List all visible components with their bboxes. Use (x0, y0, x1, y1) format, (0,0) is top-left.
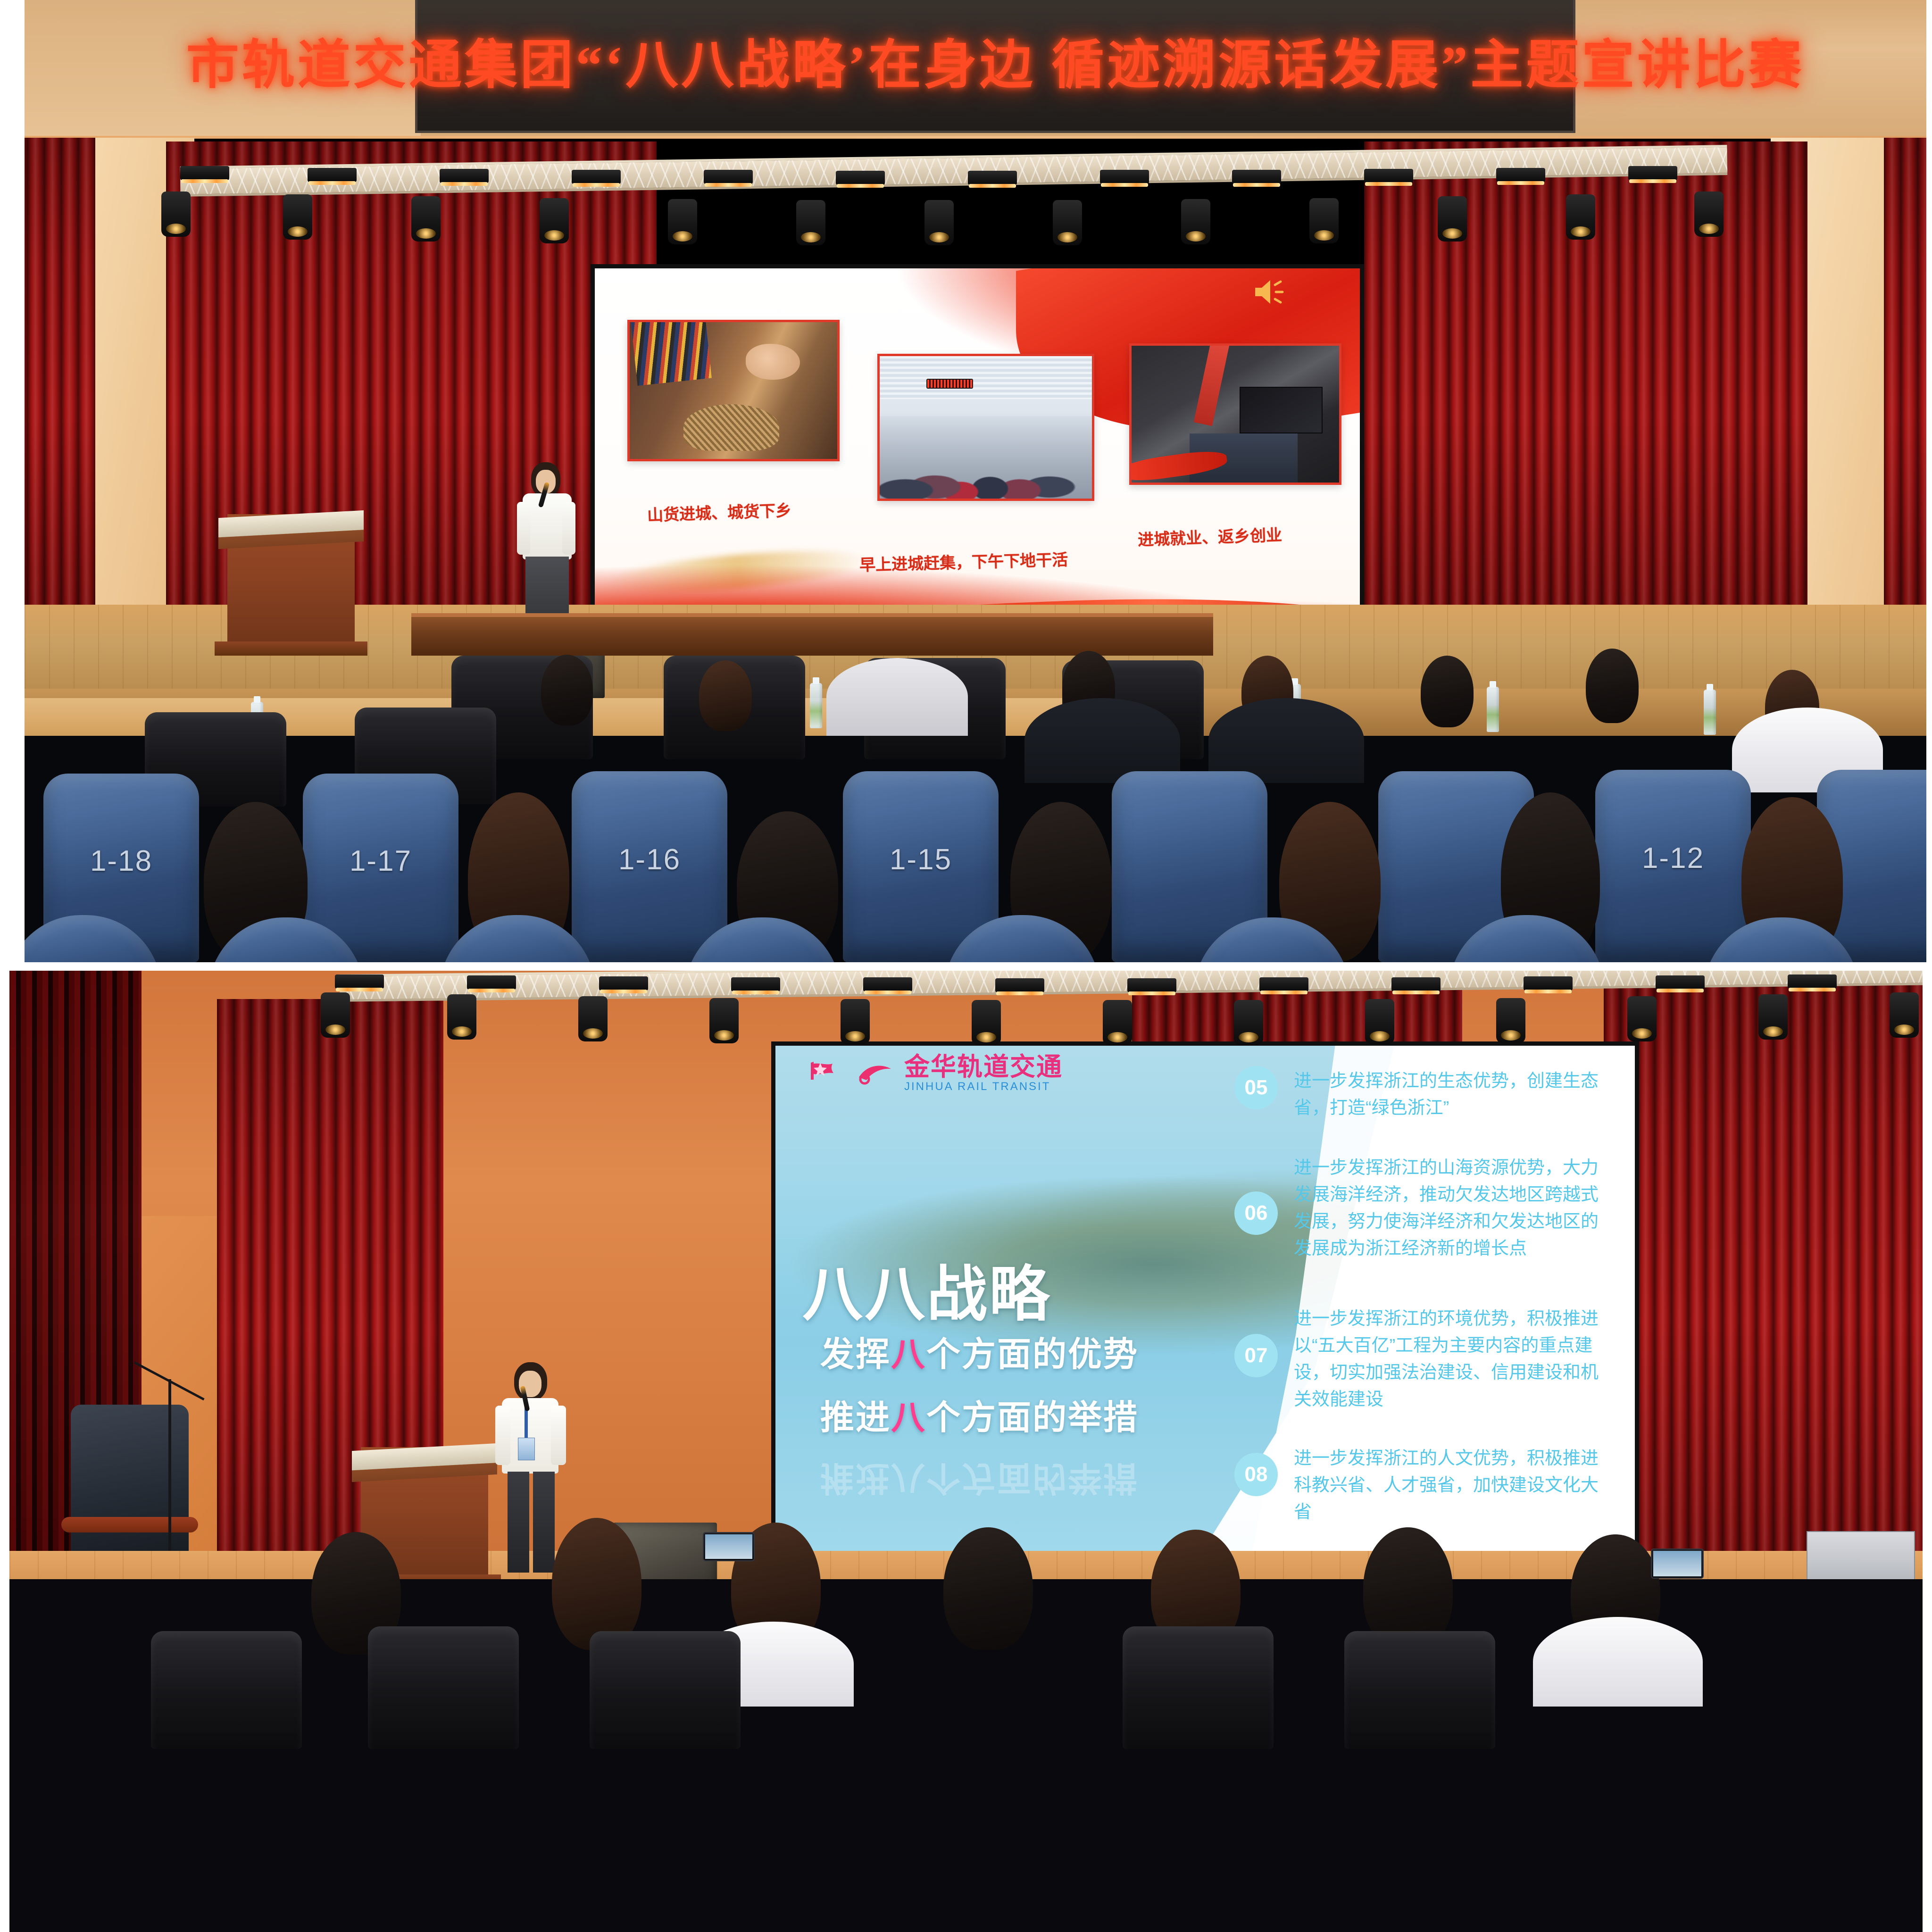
seat-label: 1-16 (572, 843, 727, 876)
seat-label: 1-17 (303, 844, 458, 878)
water-bottle (1704, 690, 1716, 735)
auditorium-seat[interactable]: 1-16 (572, 771, 727, 962)
moving-head-light-row-bottom (321, 991, 1923, 1071)
auditorium-chair-back (1344, 1631, 1495, 1749)
photo-top-presentation-hall: 市轨道交通集团“‘八八战略’在身边 循迹溯源话发展”主题宣讲比赛 (25, 0, 1926, 962)
audience-head (699, 660, 752, 731)
moving-head-light-row (161, 189, 1737, 269)
smartphone-recording[interactable] (703, 1532, 755, 1561)
photo-bottom-presentation-hall: 金华轨道交通 JINHUA RAIL TRANSIT 八八战略 发挥八个方面的优… (9, 971, 1923, 1932)
led-banner-board: 市轨道交通集团“‘八八战略’在身边 循迹溯源话发展”主题宣讲比赛 (415, 0, 1575, 133)
microphone-stand (118, 1339, 222, 1565)
water-bottle (810, 683, 822, 728)
lanyard-badge-card (518, 1438, 535, 1460)
curtain-far-left (25, 138, 95, 642)
judges-table-row2 (411, 613, 1213, 656)
seat-label: 1-12 (1595, 841, 1751, 875)
water-bottle (1487, 687, 1499, 732)
wall-trim-line (25, 136, 1926, 139)
seat-label: 1-18 (43, 844, 199, 878)
presenter-male (495, 1362, 566, 1574)
auditorium-chair-back (368, 1626, 519, 1749)
poster-canvas: 市轨道交通集团“‘八八战略’在身边 循迹溯源话发展”主题宣讲比赛 (0, 0, 1932, 1932)
led-banner-text: 市轨道交通集团“‘八八战略’在身边 循迹溯源话发展”主题宣讲比赛 (186, 22, 1805, 99)
stage-led-screen-top: 山货进城、城货下乡 早上进城赶集，下午下地干活 进城就业、返乡创业 (591, 264, 1364, 641)
auditorium-seat[interactable]: 1-12 (1595, 770, 1751, 962)
audience-head (1421, 656, 1474, 727)
audience-head (552, 1518, 641, 1650)
curtain-far-right (1884, 138, 1926, 642)
smartphone-recording[interactable] (1651, 1549, 1704, 1579)
screen-bezel-bottom (771, 1041, 1639, 1574)
audience-head (541, 655, 593, 725)
auditorium-chair-back (151, 1631, 302, 1749)
audience-shoulders (1024, 698, 1180, 783)
audience-head (943, 1527, 1033, 1650)
audience-shoulders (826, 658, 968, 736)
stage-led-screen-bottom: 金华轨道交通 JINHUA RAIL TRANSIT 八八战略 发挥八个方面的优… (771, 1041, 1639, 1574)
podium-top (227, 514, 355, 656)
seat-label: 1-15 (843, 843, 999, 876)
audience-head (1586, 649, 1639, 723)
auditorium-chair-back (1123, 1626, 1274, 1749)
auditorium-chair-back (590, 1631, 741, 1749)
audience-shoulders (1208, 698, 1364, 783)
audience-shoulders (1533, 1617, 1703, 1707)
screen-bezel-top (591, 264, 1364, 641)
